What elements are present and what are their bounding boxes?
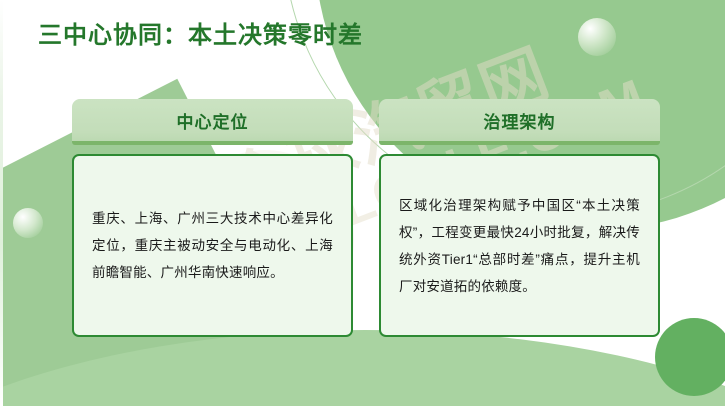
card-header-label: 中心定位 (177, 108, 249, 133)
card-header-governance-structure: 治理架构 (379, 99, 660, 145)
card-center-positioning: 中心定位 重庆、上海、广州三大技术中心差异化定位，重庆主被动安全与电动化、上海前… (72, 99, 353, 337)
card-body-center-positioning: 重庆、上海、广州三大技术中心差异化定位，重庆主被动安全与电动化、上海前瞻智能、广… (72, 154, 353, 337)
card-header-label: 治理架构 (484, 108, 556, 133)
card-body-text: 区域化治理架构赋予中国区“本土决策权”，工程变更最快24小时批复，解决传统外资T… (399, 192, 640, 300)
card-governance-structure: 治理架构 区域化治理架构赋予中国区“本土决策权”，工程变更最快24小时批复，解决… (379, 99, 660, 337)
card-header-center-positioning: 中心定位 (72, 99, 353, 145)
card-body-governance-structure: 区域化治理架构赋予中国区“本土决策权”，工程变更最快24小时批复，解决传统外资T… (379, 154, 660, 337)
slide-canvas: 全球汽贸网 QMDGLOBLE.COM 三中心协同：本土决策零时差 中心定位 重… (0, 0, 725, 406)
card-body-text: 重庆、上海、广州三大技术中心差异化定位，重庆主被动安全与电动化、上海前瞻智能、广… (92, 205, 333, 286)
card-group: 中心定位 重庆、上海、广州三大技术中心差异化定位，重庆主被动安全与电动化、上海前… (0, 0, 725, 406)
